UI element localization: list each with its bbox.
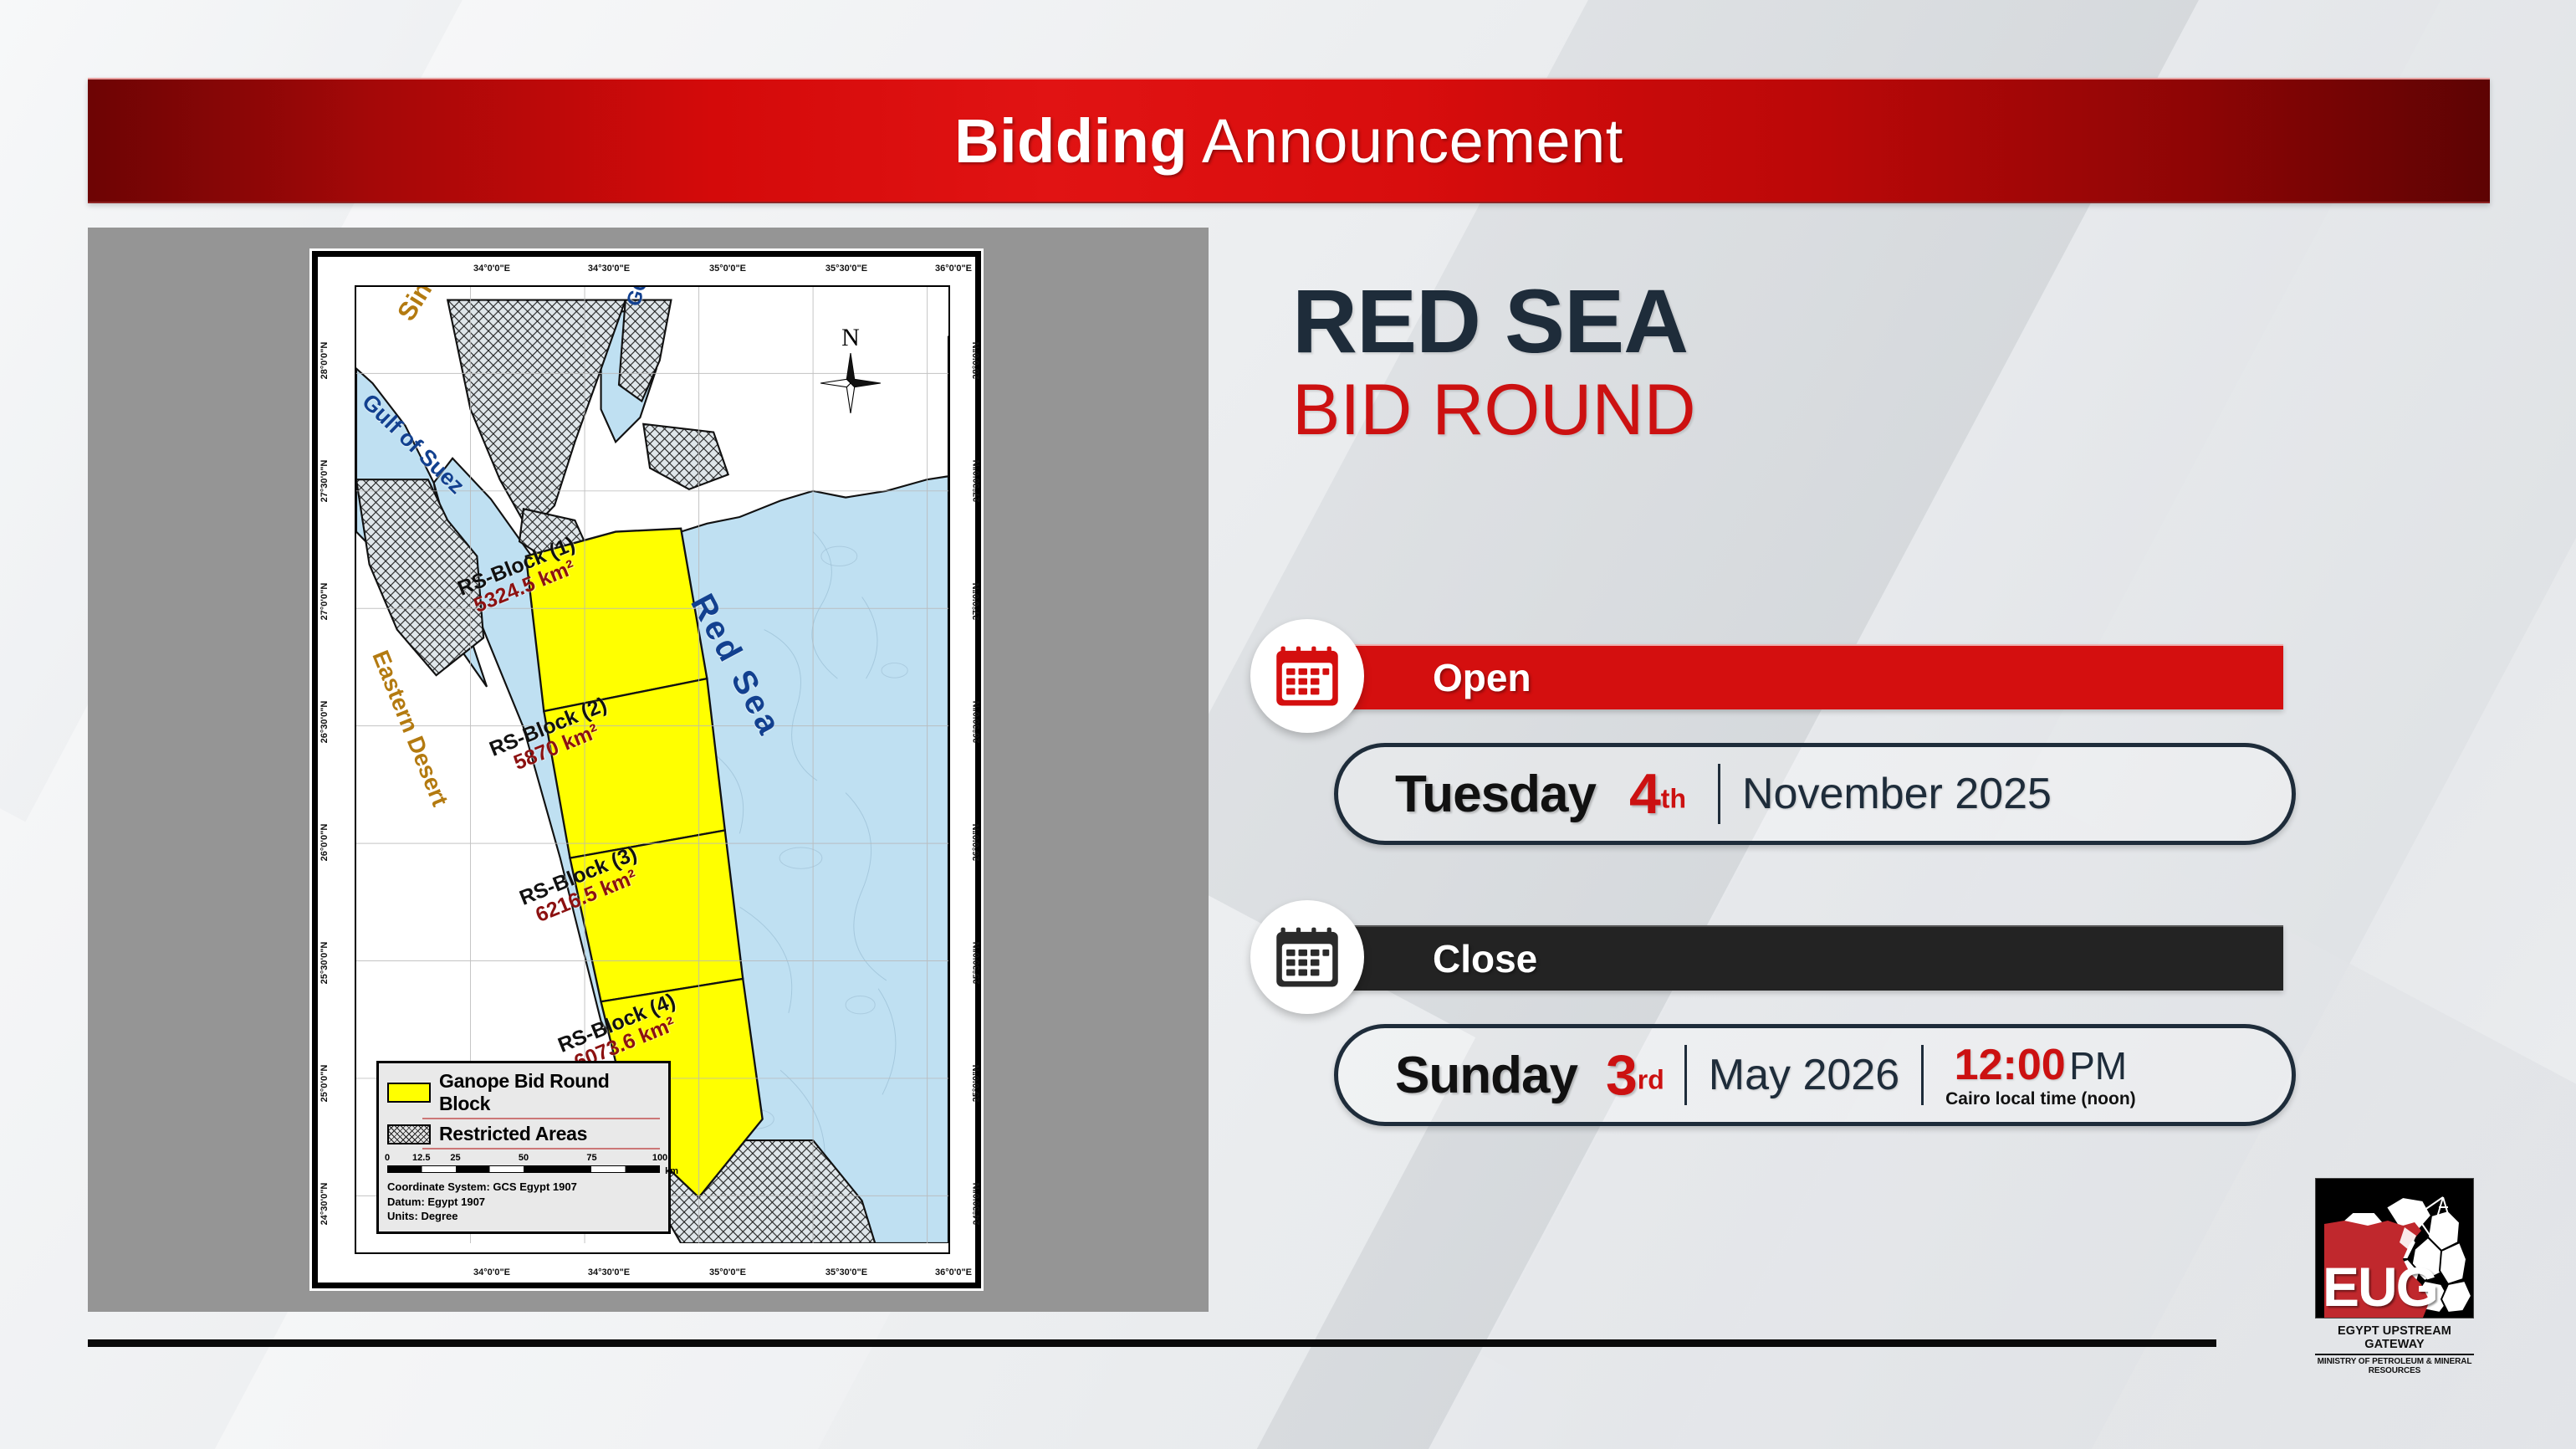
close-meridiem: PM bbox=[2069, 1044, 2127, 1088]
page-title-bold: Bidding bbox=[954, 106, 1188, 176]
compass-rose: N bbox=[818, 325, 883, 417]
close-time-block: 12:00 PM Cairo local time (noon) bbox=[1945, 1043, 2136, 1108]
open-date-pill: Tuesday 4th November 2025 bbox=[1334, 743, 2296, 845]
eug-logo-mark: EUG bbox=[2315, 1178, 2474, 1318]
close-calendar-icon-circle bbox=[1250, 900, 1364, 1014]
map-axis-right-tick: 27°0'0"N bbox=[972, 583, 982, 621]
map-axis-top-tick: 36°0'0"E bbox=[935, 264, 972, 274]
map-axis-left-tick: 27°30'0"N bbox=[319, 460, 330, 503]
eug-logo-subtitle: MINISTRY OF PETROLEUM & MINERAL RESOURCE… bbox=[2315, 1357, 2474, 1375]
footer-divider bbox=[88, 1339, 2216, 1347]
map-axis-left-tick: 25°30'0"N bbox=[319, 942, 330, 985]
open-weekday: Tuesday bbox=[1395, 765, 1596, 824]
legend-item: Restricted Areas bbox=[387, 1123, 660, 1145]
legend-swatch-restricted bbox=[387, 1124, 431, 1144]
map-axis-top-tick: 34°0'0"E bbox=[473, 264, 510, 274]
map-axis-right-tick: 28°0'0"N bbox=[972, 342, 982, 380]
legend-swatch-bid-block bbox=[387, 1083, 431, 1103]
map-metadata: Coordinate System: GCS Egypt 1907 Datum:… bbox=[387, 1180, 660, 1224]
calendar-icon bbox=[1272, 641, 1342, 711]
page-title: Bidding Announcement bbox=[954, 105, 1623, 177]
map-frame: 34°0'0"E 34°30'0"E 35°0'0"E 35°30'0"E 36… bbox=[312, 251, 981, 1288]
hero-title-line2: BID ROUND bbox=[1292, 370, 2279, 450]
scale-bar: 0 12.5 25 50 75 100 km bbox=[387, 1153, 660, 1173]
map-axis-left-tick: 28°0'0"N bbox=[319, 342, 330, 380]
open-month-year: November 2025 bbox=[1742, 769, 2052, 819]
map-axis-right-tick: 25°0'0"N bbox=[972, 1065, 982, 1103]
calendar-icon bbox=[1272, 922, 1342, 992]
close-date-pill: Sunday 3rd May 2026 12:00 PM Cairo local… bbox=[1334, 1024, 2296, 1126]
map-axis-bottom-tick: 34°30'0"E bbox=[588, 1267, 630, 1277]
close-month-year: May 2026 bbox=[1709, 1050, 1899, 1100]
map-panel: 34°0'0"E 34°30'0"E 35°0'0"E 35°30'0"E 36… bbox=[88, 228, 1209, 1312]
map-axis-right-tick: 27°30'0"N bbox=[972, 460, 982, 503]
open-day-ordinal: th bbox=[1661, 784, 1686, 814]
map-axis-left-tick: 25°0'0"N bbox=[319, 1065, 330, 1103]
map-axis-right-tick: 24°30'0"N bbox=[972, 1183, 982, 1226]
map-axis-left-tick: 27°0'0"N bbox=[319, 583, 330, 621]
map-axis-right-tick: 25°30'0"N bbox=[972, 942, 982, 985]
close-day-number: 3 bbox=[1606, 1043, 1638, 1107]
map-axis-right-tick: 26°0'0"N bbox=[972, 824, 982, 862]
hero-title-line1: RED SEA bbox=[1292, 276, 2279, 366]
hero-block: RED SEA BID ROUND bbox=[1292, 276, 2279, 450]
open-label: Open bbox=[1433, 655, 1531, 700]
legend-item: Ganope Bid Round Block bbox=[387, 1070, 660, 1115]
eug-logo-name: EGYPT UPSTREAM GATEWAY bbox=[2315, 1324, 2474, 1351]
map-axis-left-tick: 26°0'0"N bbox=[319, 824, 330, 862]
legend-label: Restricted Areas bbox=[439, 1123, 587, 1145]
open-day-number: 4 bbox=[1629, 762, 1661, 826]
map-axis-left-tick: 24°30'0"N bbox=[319, 1183, 330, 1226]
legend-label: Ganope Bid Round Block bbox=[439, 1070, 660, 1115]
page-title-regular: Announcement bbox=[1188, 106, 1623, 176]
close-timezone-note: Cairo local time (noon) bbox=[1945, 1090, 2136, 1108]
map-axis-top-tick: 35°0'0"E bbox=[709, 264, 746, 274]
eug-logo: EUG EGYPT UPSTREAM GATEWAY MINISTRY OF P… bbox=[2315, 1178, 2474, 1375]
map-axis-top-tick: 34°30'0"E bbox=[588, 264, 630, 274]
close-header-bar: Close bbox=[1334, 925, 2283, 991]
header-banner: Bidding Announcement bbox=[88, 78, 2490, 203]
map-axis-top-tick: 35°30'0"E bbox=[825, 264, 867, 274]
eug-logo-text: EUG bbox=[2323, 1264, 2437, 1309]
compass-star-icon bbox=[818, 351, 883, 416]
map-legend: Ganope Bid Round Block Restricted Areas … bbox=[376, 1061, 671, 1234]
close-label: Close bbox=[1433, 936, 1537, 981]
map-axis-bottom-tick: 36°0'0"E bbox=[935, 1267, 972, 1277]
compass-north-label: N bbox=[818, 325, 883, 351]
map-axis-left-tick: 26°30'0"N bbox=[319, 701, 330, 744]
open-header-bar: Open bbox=[1334, 644, 2283, 709]
map-axis-right-tick: 26°30'0"N bbox=[972, 701, 982, 744]
close-weekday: Sunday bbox=[1395, 1046, 1577, 1105]
map-axis-bottom-tick: 35°30'0"E bbox=[825, 1267, 867, 1277]
open-calendar-icon-circle bbox=[1250, 619, 1364, 733]
scale-unit: km bbox=[665, 1166, 678, 1176]
close-time: 12:00 bbox=[1955, 1041, 2066, 1089]
close-day-ordinal: rd bbox=[1638, 1065, 1664, 1095]
map-axis-bottom-tick: 35°0'0"E bbox=[709, 1267, 746, 1277]
map-axis-bottom-tick: 34°0'0"E bbox=[473, 1267, 510, 1277]
